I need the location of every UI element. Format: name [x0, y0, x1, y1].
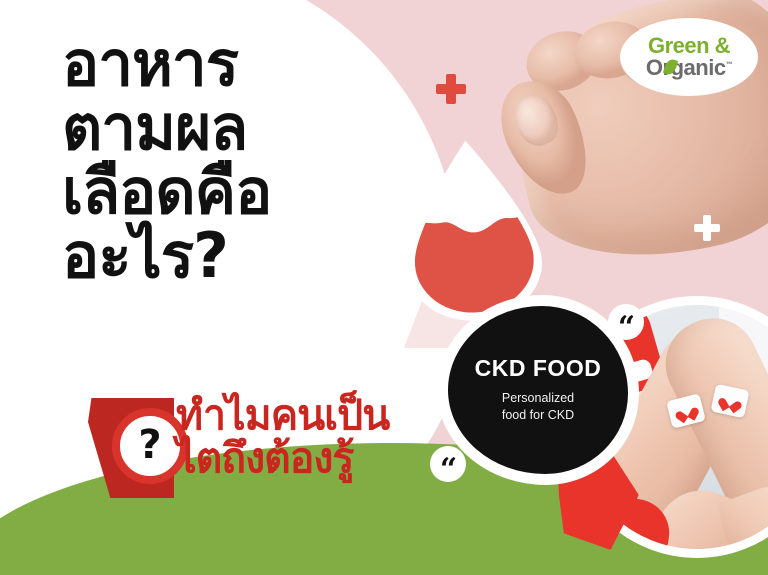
brand-logo[interactable]: Green & Organic™	[620, 18, 758, 96]
page-title: อาหาร ตามผล เลือดคือ อะไร?	[62, 32, 412, 287]
trademark-symbol: ™	[726, 62, 733, 69]
badge-title: CKD FOOD	[475, 357, 602, 380]
quote-mark-icon: “	[608, 304, 644, 340]
headline-line-4: อะไร?	[62, 224, 412, 288]
subtitle: ทำไมคนเป็น ไตถึงต้องรู้	[176, 394, 476, 481]
logo-line-2-text: Organic	[646, 55, 726, 80]
poster-canvas: CKD FOOD Personalized food for CKD “ “ อ…	[0, 0, 768, 575]
subtitle-line-1: ทำไมคนเป็น	[176, 394, 476, 437]
logo-line-2: Organic™	[646, 57, 732, 79]
medical-cross-icon	[436, 74, 466, 104]
headline-line-1: อาหาร	[62, 32, 412, 96]
badge-subtitle-line-1: Personalized	[502, 390, 574, 407]
quote-glyph-top: “	[618, 313, 634, 343]
badge-subtitle: Personalized food for CKD	[502, 390, 574, 424]
medical-cross-icon	[694, 215, 720, 241]
headline-line-3: เลือดคือ	[62, 160, 412, 224]
blood-drop-inner	[407, 145, 537, 317]
badge-subtitle-line-2: food for CKD	[502, 407, 574, 424]
question-mark-glyph: ?	[138, 425, 161, 465]
headline-line-2: ตามผล	[62, 96, 412, 160]
subtitle-line-2: ไตถึงต้องรู้	[176, 437, 476, 480]
logo-line-1: Green &	[648, 35, 730, 57]
